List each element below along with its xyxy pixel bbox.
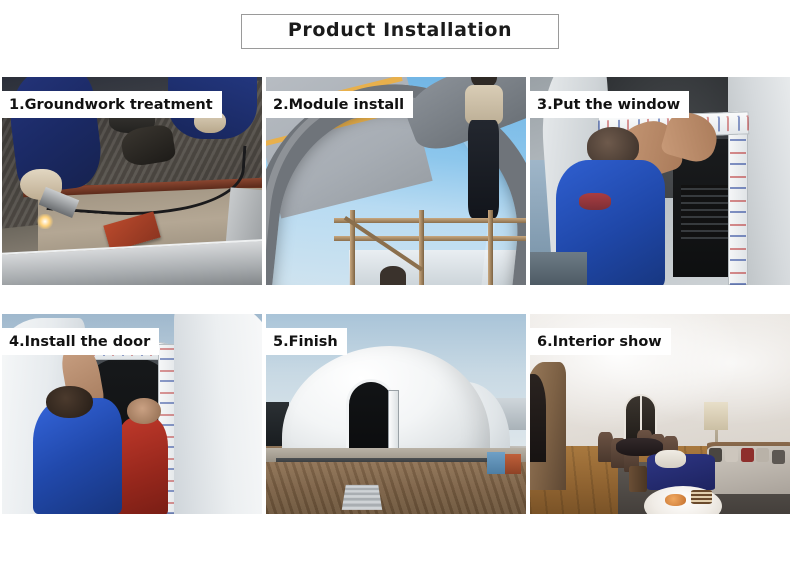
step-label-box-4: 4.Install the door	[2, 328, 159, 355]
step-label-2: 2.Module install	[273, 97, 404, 113]
step-card-3[interactable]: 3.Put the window	[530, 77, 790, 285]
page-title: Product Installation	[288, 20, 512, 42]
step-label-box-6: 6.Interior show	[530, 328, 671, 355]
step-card-1[interactable]: 1.Groundwork treatment	[2, 77, 262, 285]
step-label-6: 6.Interior show	[537, 334, 662, 350]
step-label-box-5: 5.Finish	[266, 328, 347, 355]
gallery-row: 1.Groundwork treatment	[2, 77, 790, 285]
step-label-5: 5.Finish	[273, 334, 338, 350]
step-label-3: 3.Put the window	[537, 97, 680, 113]
step-card-6[interactable]: 6.Interior show	[530, 314, 790, 514]
step-card-4[interactable]: 4.Install the door	[2, 314, 262, 514]
step-label-4: 4.Install the door	[9, 334, 150, 350]
step-label-1: 1.Groundwork treatment	[9, 97, 213, 113]
page-header: Product Installation	[0, 0, 800, 49]
step-label-box-2: 2.Module install	[266, 91, 413, 118]
installation-step-gallery: 1.Groundwork treatment	[2, 77, 790, 514]
step-card-2[interactable]: 2.Module install	[266, 77, 526, 285]
gallery-row: 4.Install the door 5.Finish	[2, 314, 790, 514]
step-label-box-3: 3.Put the window	[530, 91, 689, 118]
title-box: Product Installation	[241, 14, 559, 49]
step-label-box-1: 1.Groundwork treatment	[2, 91, 222, 118]
step-card-5[interactable]: 5.Finish	[266, 314, 526, 514]
